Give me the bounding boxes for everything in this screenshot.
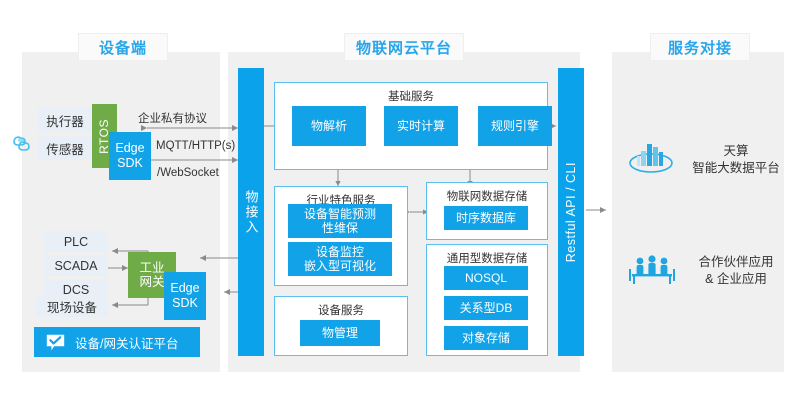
edge-sdk-gateway-label-line1: Edge [170,281,199,296]
group-iot-data-storage-title: 物联网数据存储 [427,188,547,204]
industrial-gateway-label-line1: 工业 [139,261,164,275]
panel-device-side [22,52,220,372]
service-predictive-maintenance-line1: 设备智能预测 [304,207,376,221]
cloud-link-icon [10,128,36,154]
service-thing-management[interactable]: 物管理 [300,320,380,346]
group-basic-services-title: 基础服务 [275,88,547,104]
group-device-services-title: 设备服务 [275,302,407,318]
edge-sdk-device-label-line1: Edge [115,141,144,156]
service-entry-partners-line1: 合作伙伴应用 [686,254,786,271]
service-predictive-maintenance-line2: 性维保 [322,221,358,235]
service-predictive-maintenance[interactable]: 设备智能预测 性维保 [288,204,392,238]
partners-people-icon [628,252,676,286]
auth-platform-label: 设备/网关认证平台 [75,333,178,352]
group-general-data-storage-title: 通用型数据存储 [427,250,547,266]
service-thing-parsing[interactable]: 物解析 [292,106,366,146]
legacy-system-plc[interactable]: PLC [44,231,108,252]
protocol-label-private: 企业私有协议 [138,110,207,126]
service-entry-bigdata-line2: 智能大数据平台 [686,160,786,177]
device-endpoint-sensor[interactable]: 传感器 [38,136,92,160]
service-entry-partners[interactable]: 合作伙伴应用 & 企业应用 [686,254,786,288]
legacy-system-scada[interactable]: SCADA [44,255,108,276]
ingress-bar[interactable]: 物接入 [238,68,264,356]
panel-title-service: 服务对接 [650,33,750,61]
service-device-monitor-line2: 嵌入型可视化 [304,259,376,273]
industrial-gateway-label-line2: 网关 [139,275,164,289]
edge-sdk-gateway-label-line2: SDK [172,296,198,311]
legacy-system-field-device[interactable]: 现场设备 [36,296,108,317]
bigdata-building-icon [628,138,674,178]
storage-relational-db[interactable]: 关系型DB [444,296,528,320]
auth-platform-bar[interactable]: 设备/网关认证平台 [34,327,200,357]
diagram-canvas: 设备端 物联网云平台 服务对接 [0,0,802,411]
egress-bar-label: Restful API / CLI [564,162,578,262]
check-badge-icon [46,334,65,351]
edge-sdk-device-label-line2: SDK [117,156,143,171]
service-device-monitor-visualization[interactable]: 设备监控 嵌入型可视化 [288,242,392,276]
ingress-bar-label: 物接入 [242,190,261,235]
panel-service-integration [612,52,784,372]
egress-bar[interactable]: Restful API / CLI [558,68,584,356]
edge-sdk-device-box[interactable]: Edge SDK [109,132,151,180]
service-rule-engine[interactable]: 规则引擎 [478,106,552,146]
panel-title-device: 设备端 [78,33,168,61]
storage-object-storage[interactable]: 对象存储 [444,326,528,350]
protocol-label-mqtt: MQTT/HTTP(s) [156,140,235,152]
service-device-monitor-line1: 设备监控 [316,245,364,259]
storage-timeseries-db[interactable]: 时序数据库 [444,206,528,230]
service-entry-bigdata[interactable]: 天算 智能大数据平台 [686,143,786,177]
device-endpoint-actuator[interactable]: 执行器 [38,108,92,132]
panel-title-cloud: 物联网云平台 [344,33,464,61]
service-realtime-compute[interactable]: 实时计算 [384,106,458,146]
protocol-label-websocket: /WebSocket [157,167,219,179]
service-entry-partners-line2: & 企业应用 [686,271,786,288]
storage-nosql[interactable]: NOSQL [444,266,528,290]
service-entry-bigdata-line1: 天算 [686,143,786,160]
edge-sdk-gateway-box[interactable]: Edge SDK [164,272,206,320]
